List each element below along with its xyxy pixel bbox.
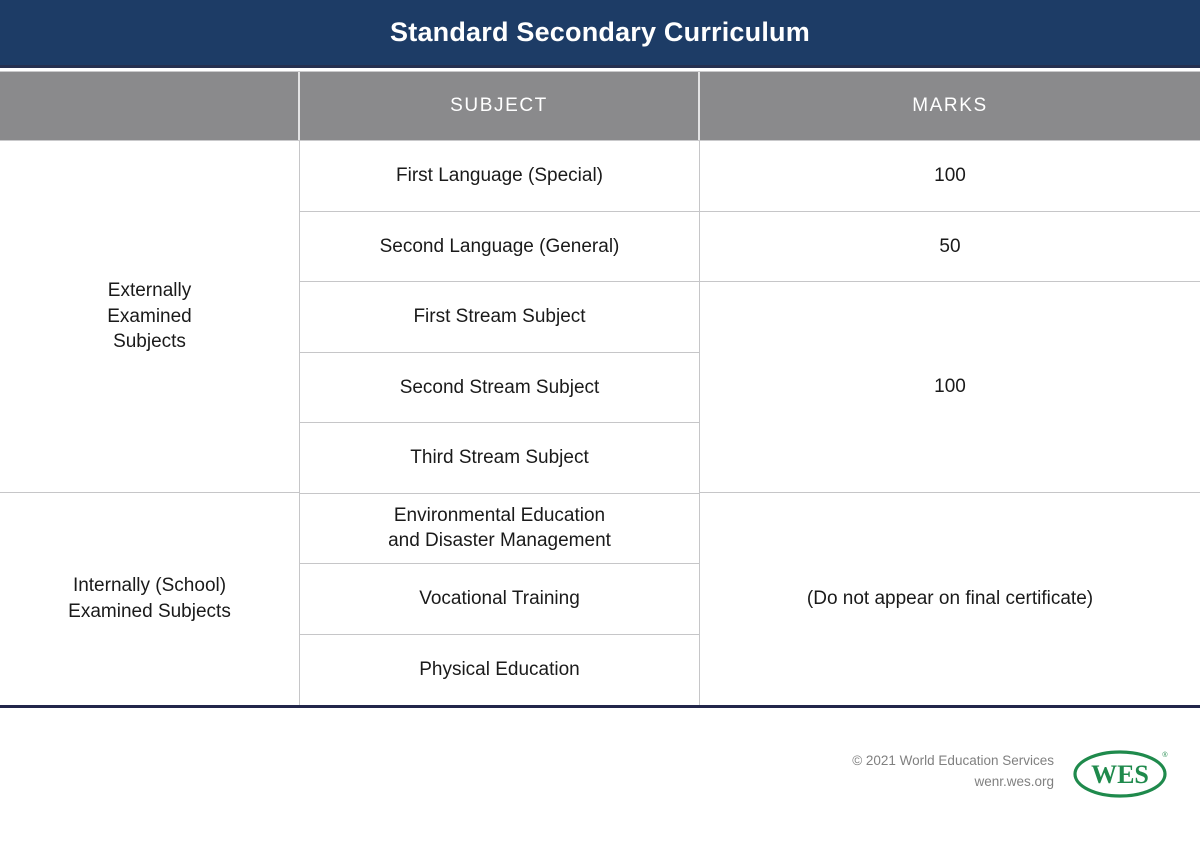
subject-column: First Language (Special) Second Language… [300, 141, 700, 705]
group-label-line: Examined [107, 306, 192, 327]
table-body: Externally Examined Subjects Internally … [0, 141, 1200, 705]
table-row-marks: 100 [700, 141, 1200, 212]
column-header-group [0, 72, 300, 140]
footer-copyright: © 2021 World Education Services [852, 751, 1054, 772]
footer-credit: © 2021 World Education Services wenr.wes… [852, 751, 1054, 793]
group-label-line: Externally [108, 280, 191, 301]
group-label-line: Internally (School) [73, 575, 226, 596]
group-label-line: Examined Subjects [68, 601, 231, 622]
group-label-column: Externally Examined Subjects Internally … [0, 141, 300, 705]
footer: © 2021 World Education Services wenr.wes… [852, 745, 1174, 799]
column-header-marks: MARKS [700, 72, 1200, 140]
table-row-subject: Environmental Education and Disaster Man… [300, 494, 699, 565]
table-row-subject: Second Stream Subject [300, 353, 699, 424]
subject-line: and Disaster Management [388, 530, 611, 551]
table-row-subject: Physical Education [300, 635, 699, 706]
curriculum-table: SUBJECT MARKS Externally Examined Subjec… [0, 71, 1200, 708]
page-title-bar: Standard Secondary Curriculum [0, 0, 1200, 68]
marks-column: 100 50 100 (Do not appear on final certi… [700, 141, 1200, 705]
table-row-subject: Vocational Training [300, 564, 699, 635]
table-header-row: SUBJECT MARKS [0, 71, 1200, 141]
group-label-internally-examined: Internally (School) Examined Subjects [0, 493, 299, 705]
page-title: Standard Secondary Curriculum [390, 19, 810, 46]
group-label-line: Subjects [113, 331, 186, 352]
table-row-subject: First Language (Special) [300, 141, 699, 212]
table-row-subject: Second Language (General) [300, 212, 699, 283]
group-label-externally-examined: Externally Examined Subjects [0, 141, 299, 493]
svg-text:WES: WES [1091, 760, 1149, 789]
table-row-subject: Third Stream Subject [300, 423, 699, 494]
table-row-marks: 50 [700, 212, 1200, 282]
table-row-marks-note: (Do not appear on final certificate) [700, 493, 1200, 705]
column-header-subject: SUBJECT [300, 72, 700, 140]
table-row-subject: First Stream Subject [300, 282, 699, 353]
svg-text:®: ® [1162, 751, 1168, 759]
footer-website[interactable]: wenr.wes.org [852, 772, 1054, 793]
curriculum-table-page: Standard Secondary Curriculum SUBJECT MA… [0, 0, 1200, 842]
table-row-marks-merged: 100 [700, 282, 1200, 493]
subject-line: Environmental Education [394, 505, 605, 526]
wes-logo: WES ® [1070, 745, 1174, 799]
